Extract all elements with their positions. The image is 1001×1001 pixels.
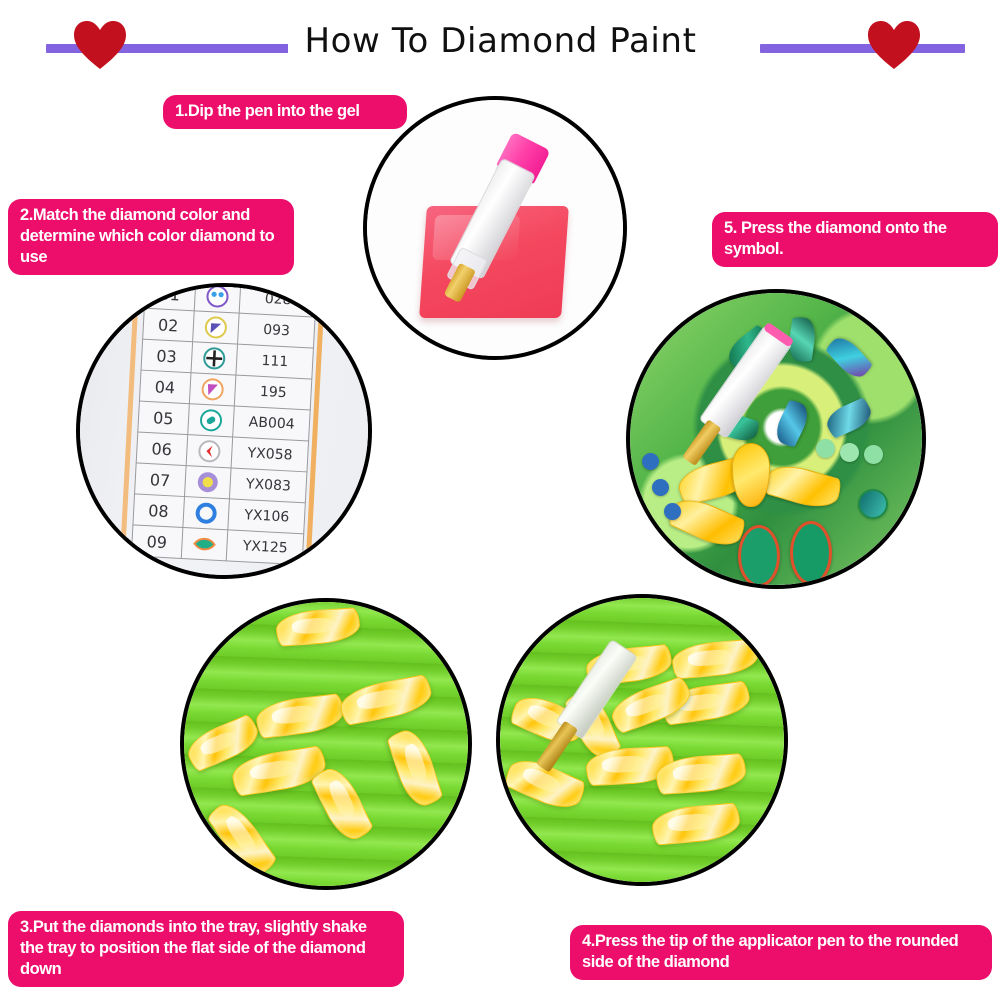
canvas-dot <box>840 443 859 462</box>
legend-number: 02 <box>143 308 194 342</box>
page-title: How To Diamond Paint <box>0 19 1001 63</box>
legend-number: 04 <box>139 370 190 404</box>
legend-code: 093 <box>238 313 315 348</box>
pen-dipping-into-gel-photo <box>367 100 623 356</box>
canvas-dot <box>642 453 659 470</box>
legend-code: YX058 <box>232 437 309 472</box>
canvas-dot <box>652 479 669 496</box>
symbol-glyph <box>188 407 234 433</box>
double-dot-circle-symbol <box>194 287 241 313</box>
symbol-glyph <box>183 500 229 526</box>
plus-circle-symbol <box>191 342 238 375</box>
symbol-glyph <box>186 438 232 464</box>
legend-number: 09 <box>131 525 182 559</box>
legend-number: 03 <box>141 339 192 373</box>
step-3-label: 3.Put the diamonds into the tray, slight… <box>8 911 404 987</box>
color-legend-chart-photo: 01 028 <box>80 287 368 575</box>
legend-number: 01 <box>144 287 195 311</box>
step-3-photo-circle <box>180 598 472 890</box>
symbol-glyph <box>191 345 237 371</box>
legend-code: 111 <box>236 344 313 379</box>
symbol-glyph <box>194 287 240 310</box>
legend-code: AB004 <box>233 406 310 441</box>
legend-chart-body: 01 028 <box>131 287 316 565</box>
legend-number: 06 <box>136 432 187 466</box>
symbol-glyph <box>190 376 236 402</box>
triangle-circle-symbol <box>192 311 239 344</box>
legend-code: 028 <box>240 287 317 317</box>
step-1-photo-circle <box>363 96 627 360</box>
triangle-circle-symbol <box>189 373 236 406</box>
canvas-dot <box>864 445 883 464</box>
legend-number: 07 <box>135 463 186 497</box>
step-5-label: 5. Press the diamond onto the symbol. <box>712 212 998 267</box>
leaf-circle-symbol <box>181 527 228 560</box>
step-5-photo-circle <box>626 289 926 589</box>
dot-ring-circle-symbol <box>184 466 231 499</box>
legend-code: YX083 <box>230 468 307 503</box>
canvas-gem-green <box>738 525 780 585</box>
step-2-photo-circle: 01 028 <box>76 283 372 579</box>
pen-picking-up-diamond-photo <box>500 598 784 882</box>
legend-code: YX106 <box>228 499 305 534</box>
infographic-page: How To Diamond Paint 01 <box>0 0 1001 1001</box>
symbol-glyph <box>181 531 227 557</box>
diamonds-in-green-tray-photo <box>184 602 468 886</box>
canvas-gem-green <box>790 521 832 585</box>
legend-chart-table: 01 028 <box>131 287 317 565</box>
legend-code: YX125 <box>227 530 304 565</box>
step-2-label: 2.Match the diamond color and determine … <box>8 199 294 275</box>
legend-number: 08 <box>133 494 184 528</box>
ring-circle-symbol <box>182 497 229 530</box>
symbol-glyph <box>193 314 239 340</box>
placing-diamond-on-canvas-photo <box>630 293 922 585</box>
canvas-dot <box>664 503 681 520</box>
page-title-text: How To Diamond Paint <box>288 19 712 63</box>
symbol-glyph <box>185 469 231 495</box>
step-4-photo-circle <box>496 594 788 886</box>
canvas-dot <box>816 439 835 458</box>
page-header: How To Diamond Paint <box>0 0 1001 90</box>
legend-code: 195 <box>235 375 312 410</box>
step-1-label: 1.Dip the pen into the gel <box>163 95 407 129</box>
canvas-dot <box>858 489 888 519</box>
capsule-circle-symbol <box>187 404 234 437</box>
step-4-label: 4.Press the tip of the applicator pen to… <box>570 925 992 980</box>
legend-number: 05 <box>138 401 189 435</box>
chevron-circle-symbol <box>186 435 233 468</box>
